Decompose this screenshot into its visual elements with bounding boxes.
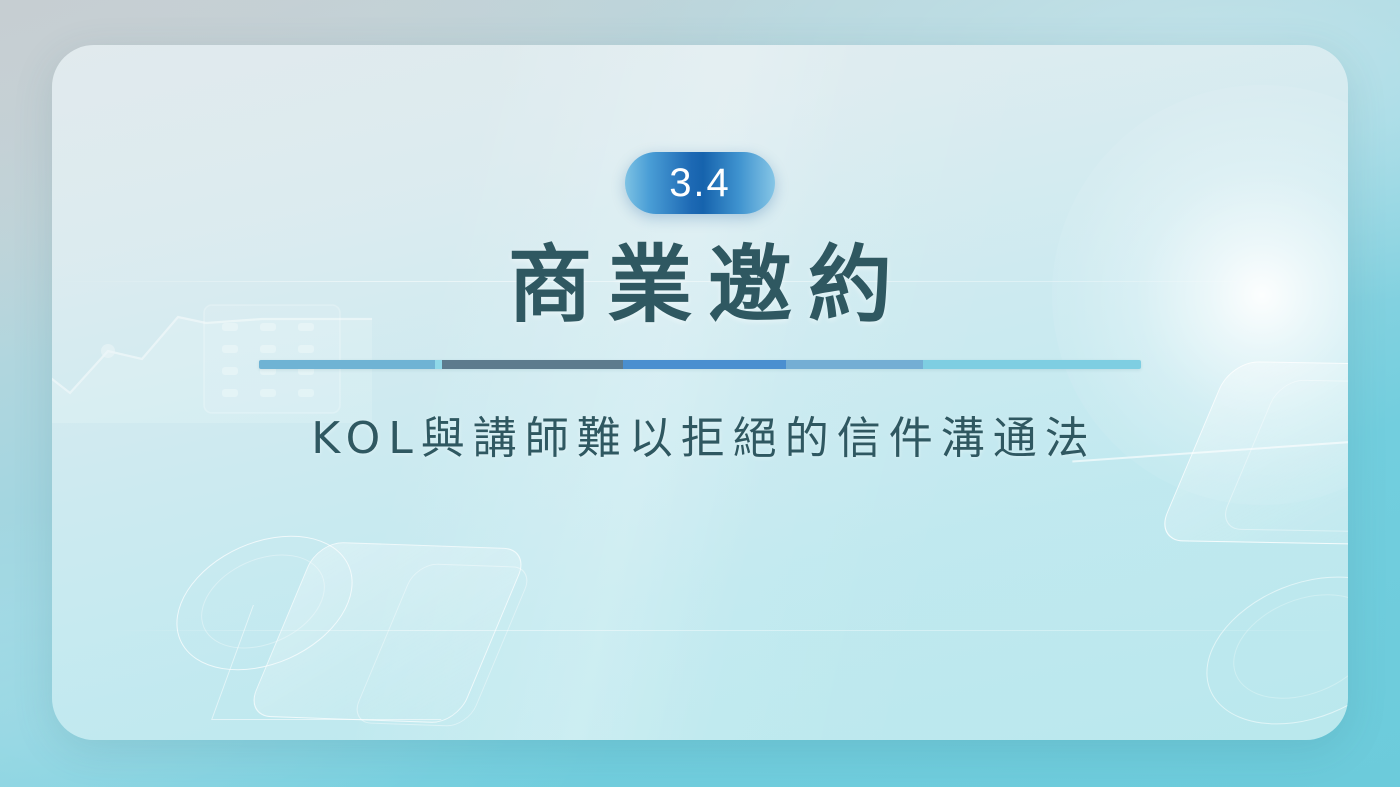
section-number-badge: 3.4 xyxy=(625,152,775,214)
divider-segment-1 xyxy=(259,360,435,369)
divider-segment-3 xyxy=(442,360,623,369)
divider-segment-5 xyxy=(786,360,923,369)
slide-card: 3.4 商業邀約 KOL與講師難以拒絕的信件溝通法 xyxy=(52,45,1348,740)
slide-subtitle: KOL與講師難以拒絕的信件溝通法 xyxy=(303,413,1097,466)
section-number-label: 3.4 xyxy=(669,163,731,203)
segmented-divider xyxy=(259,360,1141,369)
divider-segment-6 xyxy=(923,360,1141,369)
slide-root: 3.4 商業邀約 KOL與講師難以拒絕的信件溝通法 xyxy=(0,0,1400,787)
divider-segment-2 xyxy=(435,360,442,369)
page-title: 商業邀約 xyxy=(492,238,908,332)
slide-content: 3.4 商業邀約 KOL與講師難以拒絕的信件溝通法 xyxy=(52,45,1348,740)
divider-segment-4 xyxy=(623,360,786,369)
